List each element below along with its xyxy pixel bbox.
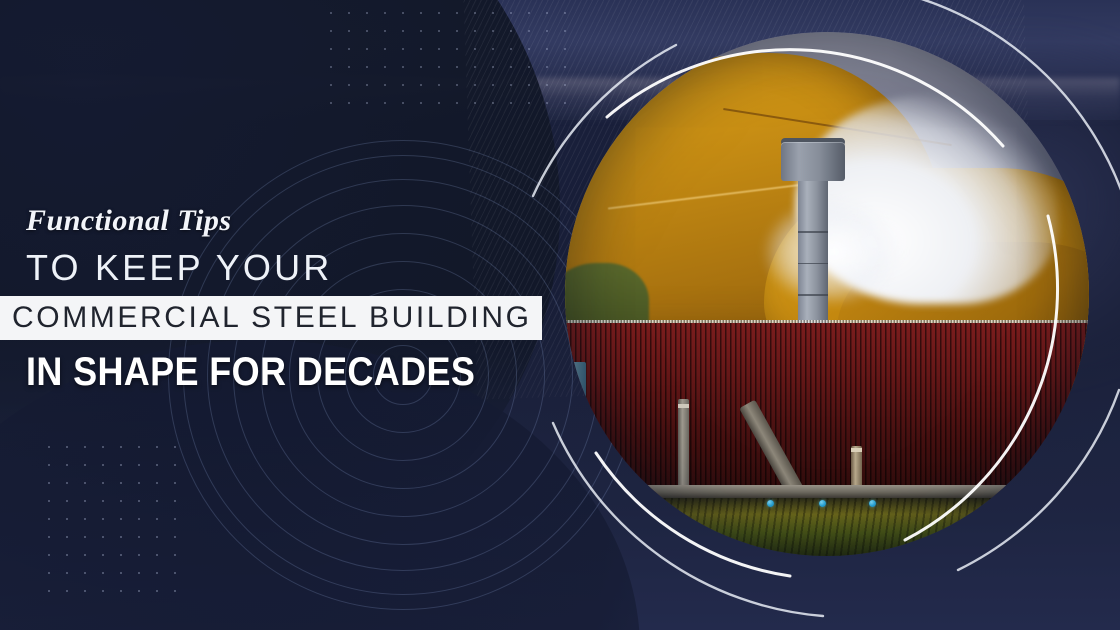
promo-banner: Functional Tips TO KEEP YOUR COMMERCIAL …	[0, 0, 1120, 630]
photo-vignette	[565, 32, 1089, 556]
dot-grid-top-icon	[322, 4, 574, 116]
headline-line-2: COMMERCIAL STEEL BUILDING	[12, 303, 532, 333]
photo-content	[565, 32, 1089, 556]
headline-highlight-band: COMMERCIAL STEEL BUILDING	[0, 296, 542, 340]
headline-line-3: IN SHAPE FOR DECADES	[26, 352, 490, 392]
circular-photo	[565, 32, 1089, 556]
headline-kicker: Functional Tips	[26, 206, 542, 236]
headline-block: Functional Tips TO KEEP YOUR COMMERCIAL …	[22, 206, 542, 392]
dot-grid-bottom-icon	[40, 438, 186, 606]
headline-line-1: TO KEEP YOUR	[26, 250, 542, 286]
